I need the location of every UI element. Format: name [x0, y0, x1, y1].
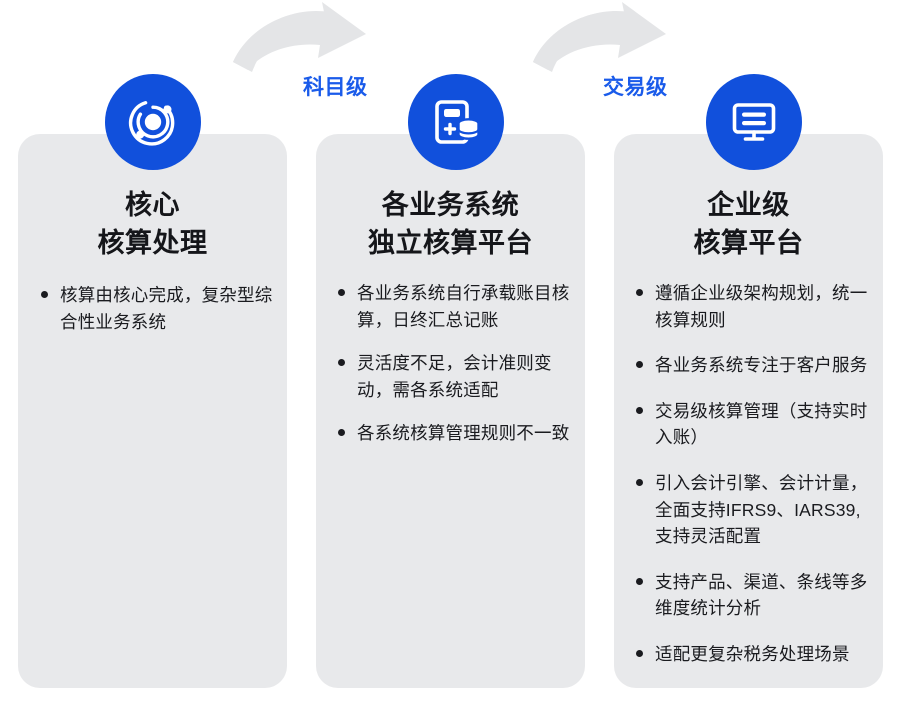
orbit-icon — [126, 95, 180, 149]
icon-badge-core — [105, 74, 201, 170]
list-item-text: 各业务系统专注于客户服务 — [655, 355, 867, 375]
calculator-database-icon — [430, 96, 482, 148]
bullet-dot-icon — [636, 407, 643, 414]
diagram-canvas: 科目级 交易级 核心 核算处理 核算由核心完成，复杂型综合性业务系统 各业务系统… — [0, 0, 900, 707]
monitor-icon — [728, 96, 780, 148]
card-title-line1: 企业级 — [614, 186, 883, 224]
icon-badge-independent — [408, 74, 504, 170]
card-independent-platform[interactable]: 各业务系统 独立核算平台 各业务系统自行承载账目核算，日终汇总记账 灵活度不足，… — [316, 134, 585, 688]
list-item: 灵活度不足，会计准则变动，需各系统适配 — [335, 350, 577, 403]
arrow-stage1-to-stage2-body — [233, 11, 330, 72]
card-title-line1: 各业务系统 — [316, 186, 585, 224]
list-item: 各业务系统专注于客户服务 — [633, 352, 877, 379]
list-item: 支持产品、渠道、条线等多维度统计分析 — [633, 569, 877, 622]
card-title-independent: 各业务系统 独立核算平台 — [316, 186, 585, 263]
list-item: 各业务系统自行承载账目核算，日终汇总记账 — [335, 280, 577, 333]
card-core-accounting[interactable]: 核心 核算处理 核算由核心完成，复杂型综合性业务系统 — [18, 134, 287, 688]
bullet-dot-icon — [636, 361, 643, 368]
list-item: 各系统核算管理规则不一致 — [335, 420, 577, 447]
list-item-text: 核算由核心完成，复杂型综合性业务系统 — [60, 285, 272, 332]
list-item-text: 引入会计引擎、会计计量，全面支持IFRS9、IARS39, 支持灵活配置 — [655, 473, 867, 546]
list-item-text: 适配更复杂税务处理场景 — [655, 644, 850, 664]
list-item-text: 交易级核算管理（支持实时入账） — [655, 401, 867, 448]
arrow-stage2-to-stage3-body — [533, 11, 630, 72]
card-enterprise-platform[interactable]: 企业级 核算平台 遵循企业级架构规划，统一核算规则 各业务系统专注于客户服务 交… — [614, 134, 883, 688]
card-title-line2: 核算平台 — [614, 224, 883, 262]
list-item-text: 各业务系统自行承载账目核算，日终汇总记账 — [357, 283, 569, 330]
list-item-text: 灵活度不足，会计准则变动，需各系统适配 — [357, 353, 552, 400]
arrow-stage1-to-stage2 — [233, 2, 366, 70]
bullet-dot-icon — [636, 650, 643, 657]
card-title-line2: 核算处理 — [18, 224, 287, 262]
list-item: 遵循企业级架构规划，统一核算规则 — [633, 280, 877, 333]
card-bullet-list-enterprise: 遵循企业级架构规划，统一核算规则 各业务系统专注于客户服务 交易级核算管理（支持… — [633, 280, 877, 687]
stage-label-transaction-level: 交易级 — [603, 71, 668, 101]
card-title-core: 核心 核算处理 — [18, 186, 287, 263]
stage-label-subject-level: 科目级 — [303, 71, 368, 101]
bullet-dot-icon — [338, 289, 345, 296]
bullet-dot-icon — [41, 291, 48, 298]
bullet-dot-icon — [338, 429, 345, 436]
card-title-line2: 独立核算平台 — [316, 224, 585, 262]
card-bullet-list-core: 核算由核心完成，复杂型综合性业务系统 — [38, 282, 273, 335]
list-item-text: 支持产品、渠道、条线等多维度统计分析 — [655, 572, 867, 619]
card-bullet-list-independent: 各业务系统自行承载账目核算，日终汇总记账 灵活度不足，会计准则变动，需各系统适配… — [335, 280, 577, 447]
list-item: 引入会计引擎、会计计量，全面支持IFRS9、IARS39, 支持灵活配置 — [633, 470, 877, 550]
icon-badge-enterprise — [706, 74, 802, 170]
list-item: 适配更复杂税务处理场景 — [633, 641, 877, 668]
list-item: 交易级核算管理（支持实时入账） — [633, 398, 877, 451]
list-item: 核算由核心完成，复杂型综合性业务系统 — [38, 282, 273, 335]
bullet-dot-icon — [636, 289, 643, 296]
list-item-text: 各系统核算管理规则不一致 — [357, 423, 569, 443]
card-title-enterprise: 企业级 核算平台 — [614, 186, 883, 263]
bullet-dot-icon — [636, 479, 643, 486]
arrow-stage2-to-stage3 — [533, 2, 666, 70]
card-title-line1: 核心 — [18, 186, 287, 224]
bullet-dot-icon — [636, 578, 643, 585]
list-item-text: 遵循企业级架构规划，统一核算规则 — [655, 283, 867, 330]
bullet-dot-icon — [338, 359, 345, 366]
